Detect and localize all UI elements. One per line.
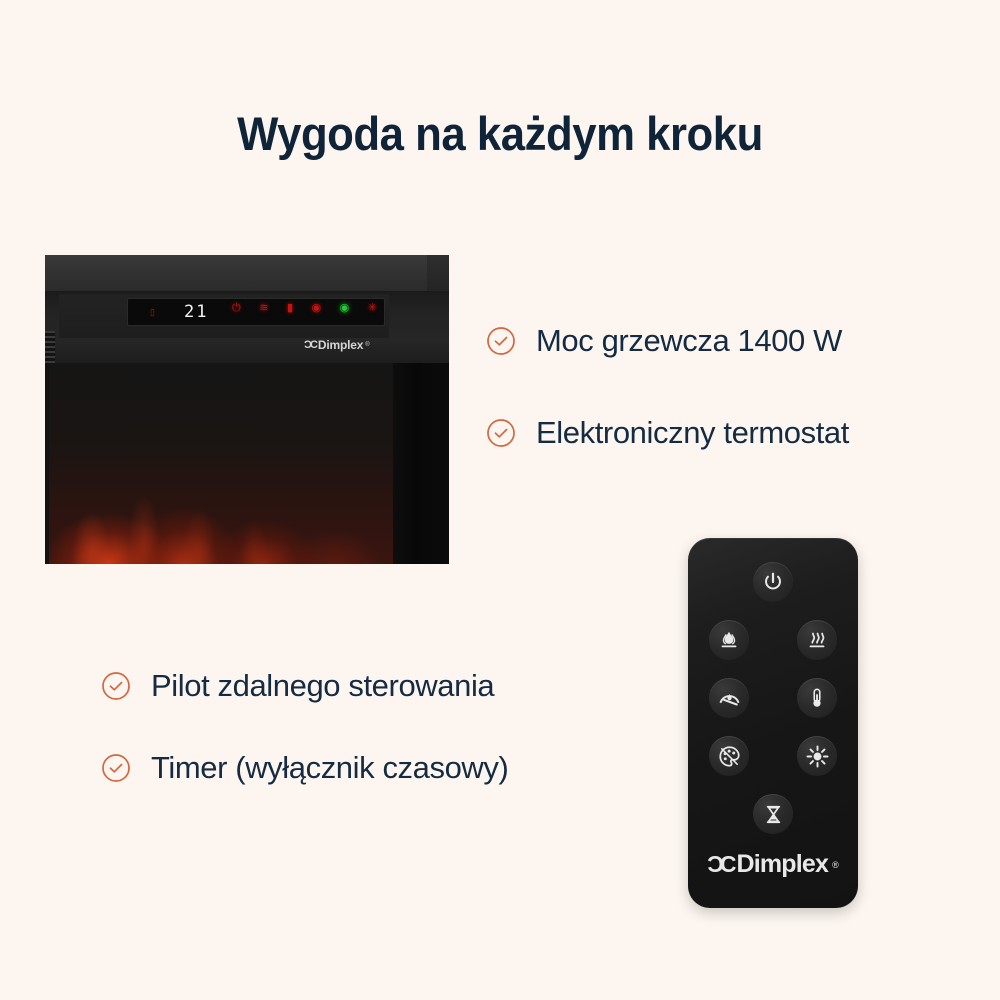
fan-speed-icon: ◉ xyxy=(312,303,322,314)
fireplace-display-panel: ▯ 21 ⏻ ≋ ▮ ◉ ◉ ✳ xyxy=(127,298,385,326)
feature-item: Elektroniczny termostat xyxy=(486,415,849,451)
flame-effect-button[interactable] xyxy=(709,620,749,660)
remote-brand-logo: ƆC Dimplex ® xyxy=(688,850,858,879)
flame-tips xyxy=(49,403,393,564)
thermostat-button[interactable] xyxy=(797,678,837,718)
remote-control: ƆC Dimplex ® xyxy=(688,538,858,908)
registered-trademark-icon: ® xyxy=(365,342,369,348)
circle-check-icon xyxy=(101,753,131,783)
circle-check-icon xyxy=(101,671,131,701)
fireplace-flame-window xyxy=(45,363,449,564)
feature-item: Timer (wyłącznik czasowy) xyxy=(101,750,508,786)
sun-brightness-icon xyxy=(805,744,830,769)
circle-check-icon xyxy=(486,418,516,448)
heat-waves-icon: ≋ xyxy=(259,303,268,314)
fireplace-top-panel xyxy=(45,255,449,291)
registered-trademark-icon: ® xyxy=(832,860,839,870)
heat-waves-icon xyxy=(805,628,829,652)
power-icon xyxy=(762,571,784,593)
fireplace-indicator-row: ⏻ ≋ ▮ ◉ ◉ ✳ xyxy=(232,303,377,314)
brightness-icon: ✳ xyxy=(368,303,377,314)
thermometer-icon: ▮ xyxy=(287,303,293,314)
flame-color-icon: ◉ xyxy=(340,303,350,314)
fireplace-right-shadow xyxy=(393,363,449,564)
feature-label: Pilot zdalnego sterowania xyxy=(151,668,494,704)
feature-label: Timer (wyłącznik czasowy) xyxy=(151,750,508,786)
power-button[interactable] xyxy=(753,562,793,602)
brightness-button[interactable] xyxy=(797,736,837,776)
dimplex-wordmark: Dimplex xyxy=(318,338,363,352)
heat-indicator-icon: ▯ xyxy=(150,308,155,317)
timer-button[interactable] xyxy=(753,794,793,834)
fireplace-brand-logo: ƆC Dimplex ® xyxy=(304,338,370,352)
dimplex-mark-icon: ƆC xyxy=(707,851,732,878)
thermometer-icon xyxy=(805,686,829,710)
fireplace-temperature-readout: 21 xyxy=(184,304,208,321)
feature-label: Moc grzewcza 1400 W xyxy=(536,323,842,359)
feature-label: Elektroniczny termostat xyxy=(536,415,849,451)
power-icon: ⏻ xyxy=(232,303,241,314)
flame-color-button[interactable] xyxy=(709,736,749,776)
flame-speed-button[interactable] xyxy=(709,678,749,718)
color-palette-icon xyxy=(717,744,742,769)
feature-item: Moc grzewcza 1400 W xyxy=(486,323,842,359)
hourglass-icon xyxy=(762,803,785,826)
dimplex-mark-icon: ƆC xyxy=(304,339,316,351)
circle-check-icon xyxy=(486,326,516,356)
heater-button[interactable] xyxy=(797,620,837,660)
feature-item: Pilot zdalnego sterowania xyxy=(101,668,494,704)
dimplex-wordmark: Dimplex xyxy=(736,850,828,879)
page-title: Wygoda na każdym kroku xyxy=(35,106,965,161)
speed-gauge-icon xyxy=(717,686,742,711)
flame-icon xyxy=(717,628,741,652)
